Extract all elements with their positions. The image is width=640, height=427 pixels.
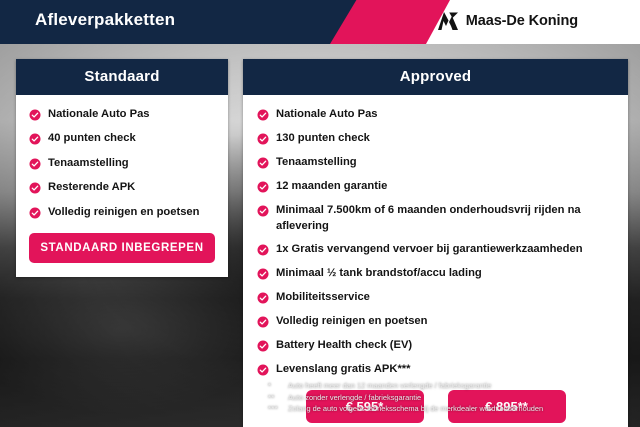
feature-item: 130 punten check: [257, 131, 614, 147]
check-circle-icon: [257, 109, 269, 121]
feature-label: Resterende APK: [48, 180, 135, 196]
feature-label: 12 maanden garantie: [276, 179, 387, 195]
check-circle-icon: [257, 205, 269, 217]
feature-label: Volledig reinigen en poetsen: [48, 205, 199, 221]
footnote-block: *Auto heeft meer dan 12 maanden verlengd…: [268, 380, 628, 415]
feature-label: 130 punten check: [276, 131, 370, 147]
check-circle-icon: [257, 340, 269, 352]
check-circle-icon: [257, 292, 269, 304]
feature-label: Tenaamstelling: [48, 156, 129, 172]
feature-item: Levenslang gratis APK***: [257, 362, 614, 378]
page-title: Afleverpakketten: [35, 10, 175, 30]
feature-item: 1x Gratis vervangend vervoer bij garanti…: [257, 242, 614, 258]
brand-lockup: Maas-De Koning: [437, 11, 578, 31]
footnote-row: ***Zolang de auto volgens fabrieksschema…: [268, 403, 628, 415]
feature-label: Volledig reinigen en poetsen: [276, 314, 427, 330]
feature-label: Nationale Auto Pas: [276, 107, 378, 123]
check-circle-icon: [257, 364, 269, 376]
feature-label: Levenslang gratis APK***: [276, 362, 411, 378]
maas-de-koning-m-logo-icon: [437, 11, 459, 31]
feature-item: Volledig reinigen en poetsen: [29, 205, 215, 221]
standard-inbegrepen-button[interactable]: STANDAARD INBEGREPEN: [29, 233, 215, 263]
feature-item: Mobiliteitsservice: [257, 290, 614, 306]
feature-label: Minimaal 7.500km of 6 maanden onderhouds…: [276, 203, 614, 235]
check-circle-icon: [257, 244, 269, 256]
footnote-text: Auto zonder verlengde / fabrieksgarantie: [288, 392, 421, 404]
approved-card-body: Nationale Auto Pas130 punten checkTenaam…: [243, 95, 628, 427]
slide-canvas: Afleverpakketten Maas-De Koning Standaar…: [0, 0, 640, 427]
feature-item: Volledig reinigen en poetsen: [257, 314, 614, 330]
feature-item: Tenaamstelling: [29, 156, 215, 172]
check-circle-icon: [29, 207, 41, 219]
footnote-row: *Auto heeft meer dan 12 maanden verlengd…: [268, 380, 628, 392]
approved-package-card: Approved Nationale Auto Pas130 punten ch…: [243, 59, 628, 427]
standard-package-card: Standaard Nationale Auto Pas40 punten ch…: [16, 59, 228, 277]
feature-label: Nationale Auto Pas: [48, 107, 150, 123]
feature-item: Resterende APK: [29, 180, 215, 196]
feature-label: 40 punten check: [48, 131, 136, 147]
feature-item: Tenaamstelling: [257, 155, 614, 171]
footnote-marker: ***: [268, 403, 282, 415]
feature-label: Minimaal ½ tank brandstof/accu lading: [276, 266, 482, 282]
feature-item: Minimaal 7.500km of 6 maanden onderhouds…: [257, 203, 614, 235]
footnote-marker: *: [268, 380, 282, 392]
standard-feature-list: Nationale Auto Pas40 punten checkTenaams…: [29, 107, 215, 221]
check-circle-icon: [29, 182, 41, 194]
brand-name: Maas-De Koning: [466, 13, 578, 29]
feature-label: Mobiliteitsservice: [276, 290, 370, 306]
check-circle-icon: [257, 157, 269, 169]
check-circle-icon: [29, 158, 41, 170]
page-header: Afleverpakketten Maas-De Koning: [0, 0, 640, 44]
feature-label: Battery Health check (EV): [276, 338, 412, 354]
feature-item: Minimaal ½ tank brandstof/accu lading: [257, 266, 614, 282]
feature-item: 40 punten check: [29, 131, 215, 147]
footnote-text: Zolang de auto volgens fabrieksschema bi…: [288, 403, 543, 415]
standard-card-heading: Standaard: [16, 59, 228, 95]
feature-item: Nationale Auto Pas: [29, 107, 215, 123]
feature-label: Tenaamstelling: [276, 155, 357, 171]
check-circle-icon: [257, 316, 269, 328]
check-circle-icon: [257, 181, 269, 193]
check-circle-icon: [257, 133, 269, 145]
check-circle-icon: [257, 268, 269, 280]
feature-item: Nationale Auto Pas: [257, 107, 614, 123]
approved-feature-list: Nationale Auto Pas130 punten checkTenaam…: [257, 107, 614, 378]
footnote-text: Auto heeft meer dan 12 maanden verlengde…: [288, 380, 491, 392]
check-circle-icon: [29, 109, 41, 121]
feature-label: 1x Gratis vervangend vervoer bij garanti…: [276, 242, 583, 258]
standard-card-body: Nationale Auto Pas40 punten checkTenaams…: [16, 95, 228, 277]
feature-item: Battery Health check (EV): [257, 338, 614, 354]
approved-card-heading: Approved: [243, 59, 628, 95]
footnote-marker: **: [268, 392, 282, 404]
check-circle-icon: [29, 133, 41, 145]
feature-item: 12 maanden garantie: [257, 179, 614, 195]
footnote-row: **Auto zonder verlengde / fabrieksgarant…: [268, 392, 628, 404]
